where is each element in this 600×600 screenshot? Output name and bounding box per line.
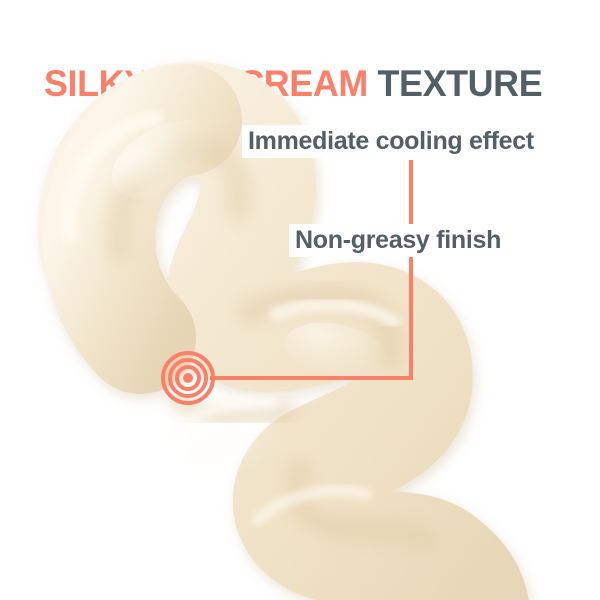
infographic-canvas: SILKY GEL CREAM TEXTURE Immediate coolin… <box>0 0 600 600</box>
cream-gel-swirl-illustration <box>0 0 600 600</box>
callout-label-non-greasy-finish: Non-greasy finish <box>289 224 507 257</box>
callout-label-immediate-cooling-effect: Immediate cooling effect <box>242 125 540 158</box>
